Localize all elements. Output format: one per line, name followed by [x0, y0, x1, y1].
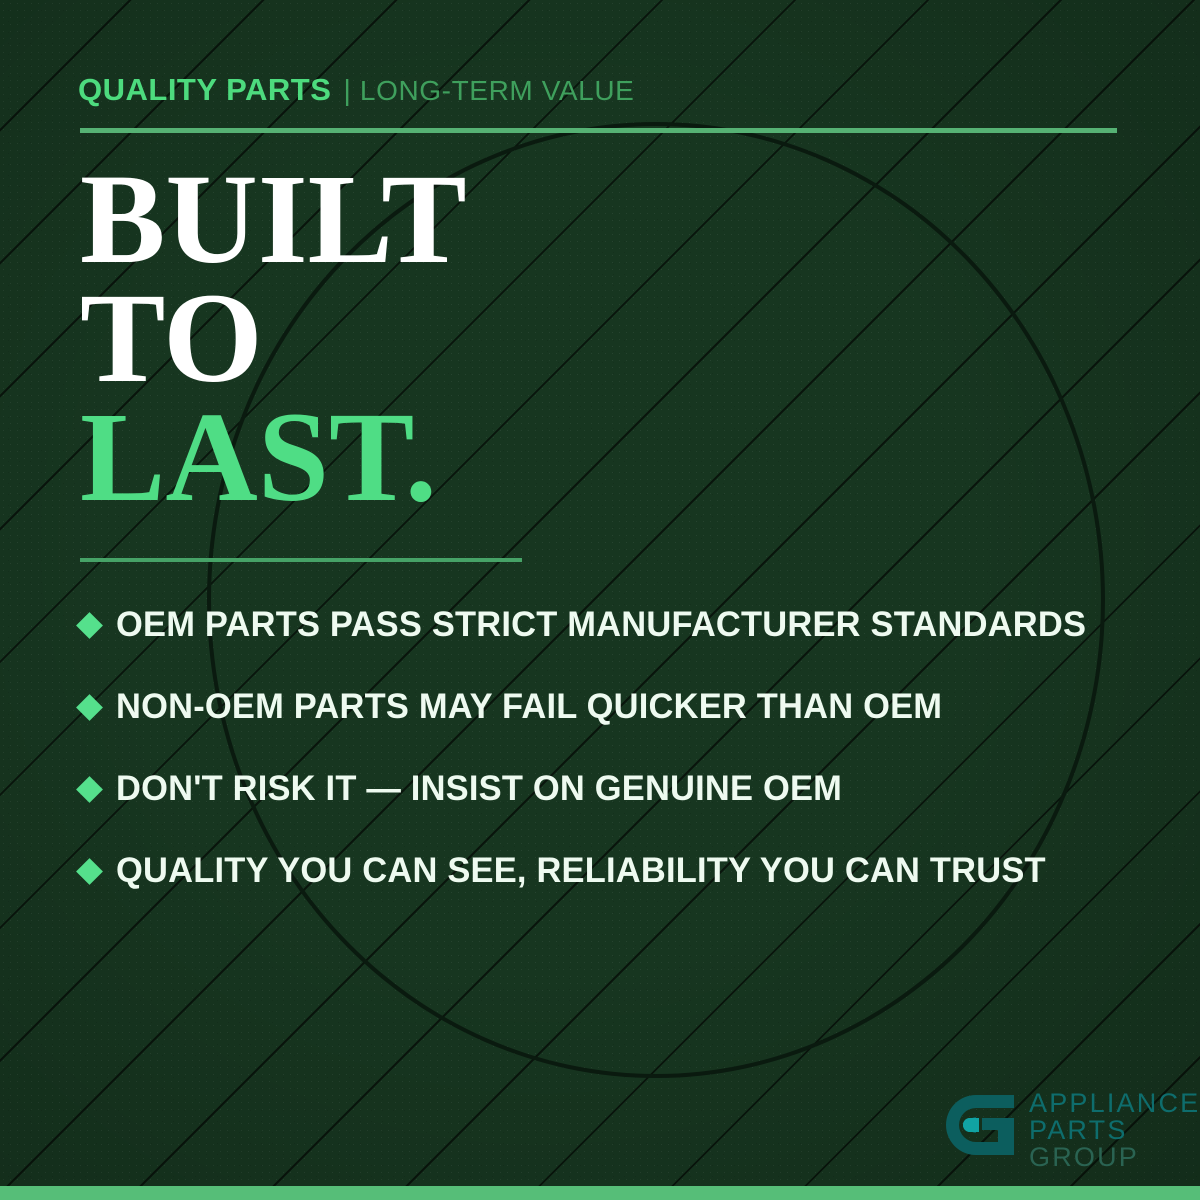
headline: BUILT TO LAST.	[80, 160, 467, 517]
headline-line-1: BUILT	[80, 160, 467, 279]
list-item-label: QUALITY YOU CAN SEE, RELIABILITY YOU CAN…	[116, 851, 1046, 891]
headline-line-2: TO	[80, 279, 467, 398]
appliance-parts-group-g-mark-icon	[946, 1088, 1018, 1162]
diamond-bullet-icon	[76, 858, 103, 885]
bullet-list: OEM PARTS PASS STRICT MANUFACTURER STAND…	[80, 584, 1140, 912]
list-item: QUALITY YOU CAN SEE, RELIABILITY YOU CAN…	[80, 830, 1140, 912]
brand-word-parts: PARTS	[1029, 1117, 1200, 1144]
eyebrow: QUALITY PARTS | LONG-TERM VALUE	[78, 72, 634, 108]
list-item: OEM PARTS PASS STRICT MANUFACTURER STAND…	[80, 584, 1140, 666]
poster-content: QUALITY PARTS | LONG-TERM VALUE BUILT TO…	[0, 0, 1200, 1200]
list-item: NON-OEM PARTS MAY FAIL QUICKER THAN OEM	[80, 666, 1140, 748]
poster-canvas: QUALITY PARTS | LONG-TERM VALUE BUILT TO…	[0, 0, 1200, 1200]
list-item-label: DON'T RISK IT — INSIST ON GENUINE OEM	[116, 769, 842, 809]
header-rule	[80, 128, 1117, 133]
brand-wordmark: APPLIANCE PARTS GROUP	[1029, 1088, 1200, 1171]
diamond-bullet-icon	[76, 776, 103, 803]
diamond-bullet-icon	[76, 694, 103, 721]
list-item: DON'T RISK IT — INSIST ON GENUINE OEM	[80, 748, 1140, 830]
eyebrow-strong-label: QUALITY PARTS	[78, 72, 331, 108]
eyebrow-separator: |	[331, 75, 360, 108]
eyebrow-light-label: LONG-TERM VALUE	[360, 75, 635, 107]
list-item-label: OEM PARTS PASS STRICT MANUFACTURER STAND…	[116, 605, 1086, 645]
list-item-label: NON-OEM PARTS MAY FAIL QUICKER THAN OEM	[116, 687, 942, 727]
brand-logo: APPLIANCE PARTS GROUP	[946, 1088, 1200, 1171]
bottom-accent-bar	[0, 1186, 1200, 1200]
headline-line-3: LAST.	[80, 398, 467, 517]
diamond-bullet-icon	[76, 612, 103, 639]
brand-word-group: GROUP	[1029, 1144, 1200, 1171]
headline-divider	[80, 558, 522, 562]
brand-word-appliance: APPLIANCE	[1029, 1090, 1200, 1117]
